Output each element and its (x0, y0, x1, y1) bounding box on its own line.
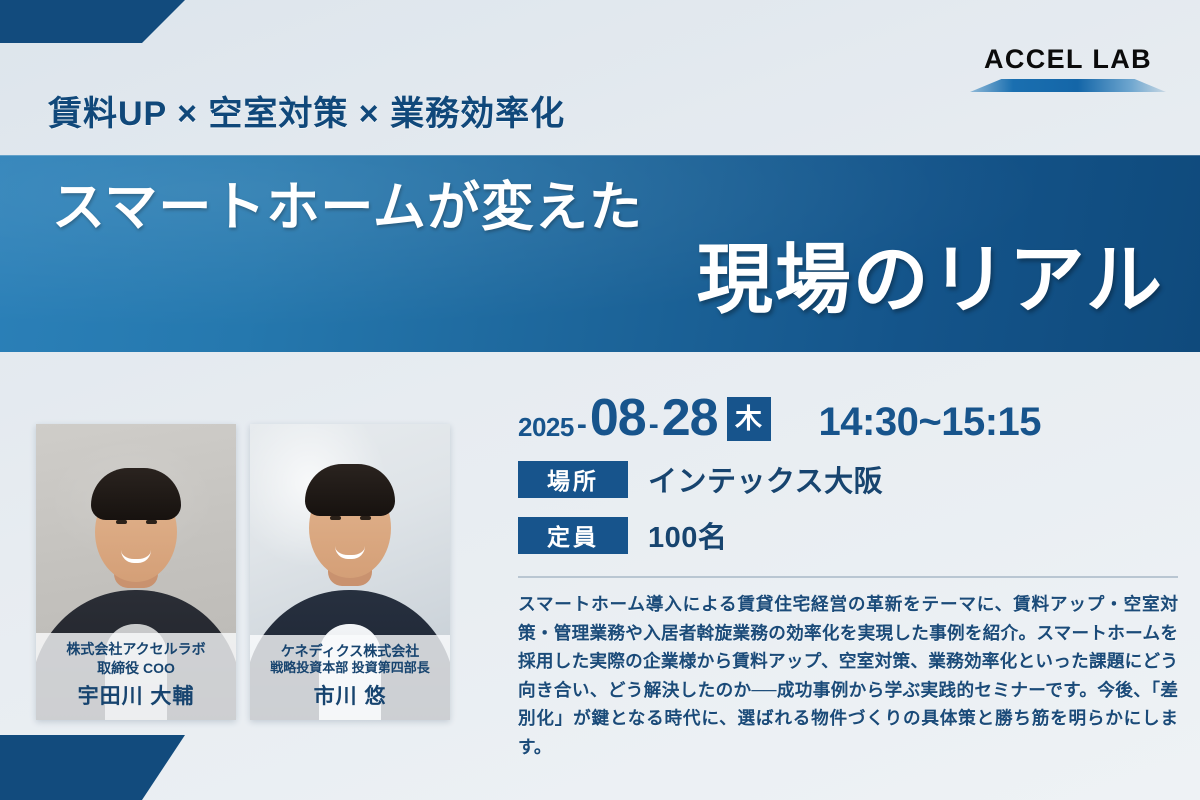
capacity-value: 100名 (648, 514, 727, 556)
seminar-poster: ACCEL LAB 賃料UP × 空室対策 × 業務効率化 スマートホームが変え… (0, 0, 1200, 800)
section-divider (518, 576, 1178, 578)
event-day-of-week-badge: 木 (727, 397, 771, 441)
capacity-label: 定員 (518, 517, 628, 554)
speaker-caption-1: 株式会社アクセルラボ 取締役 COO 宇田川 大輔 (36, 633, 236, 720)
brand-logo: ACCEL LAB (970, 46, 1166, 92)
brand-logo-swoosh-icon (970, 79, 1166, 92)
event-day: 28 (662, 392, 718, 444)
corner-wedge-bottom-left (0, 735, 185, 800)
title-band: スマートホームが変えた 現場のリアル (0, 155, 1200, 352)
speaker-card-1: 株式会社アクセルラボ 取締役 COO 宇田川 大輔 (36, 424, 236, 720)
speaker-name-2: 市川 悠 (254, 680, 446, 710)
date-separator-2: - (646, 410, 662, 444)
speaker-name-1: 宇田川 大輔 (40, 680, 232, 710)
event-time: 14:30~15:15 (819, 402, 1041, 442)
venue-label: 場所 (518, 461, 628, 498)
event-date-row: 2025 - 08 - 28 木 14:30~15:15 (518, 392, 1178, 444)
event-description: スマートホーム導入による賃貸住宅経営の革新をテーマに、賃料アップ・空室対策・管理… (518, 590, 1178, 761)
title-line-2: 現場のリアル (697, 243, 1164, 319)
venue-row: 場所 インテックス大阪 (518, 458, 1178, 500)
title-line-1: スマートホームが変えた (52, 181, 643, 234)
speaker-caption-2: ケネディクス株式会社 戦略投資本部 投資第四部長 市川 悠 (250, 635, 450, 720)
event-year: 2025 (518, 414, 574, 444)
speaker-role-1: 取締役 COO (40, 659, 232, 677)
corner-wedge-top-left (0, 0, 185, 43)
event-month: 08 (590, 392, 646, 444)
speaker-company-1: 株式会社アクセルラボ (40, 641, 232, 659)
event-info: 2025 - 08 - 28 木 14:30~15:15 場所 インテックス大阪… (518, 392, 1178, 761)
capacity-row: 定員 100名 (518, 514, 1178, 556)
kicker-text: 賃料UP × 空室対策 × 業務効率化 (48, 96, 565, 133)
speaker-card-2: ケネディクス株式会社 戦略投資本部 投資第四部長 市川 悠 (250, 424, 450, 720)
venue-value: インテックス大阪 (648, 458, 883, 500)
brand-logo-text: ACCEL LAB (970, 46, 1166, 73)
date-separator-1: - (574, 410, 590, 444)
speaker-list: 株式会社アクセルラボ 取締役 COO 宇田川 大輔 ケネディク (36, 424, 450, 720)
speaker-role-2: 戦略投資本部 投資第四部長 (254, 660, 446, 677)
speaker-company-2: ケネディクス株式会社 (254, 643, 446, 661)
